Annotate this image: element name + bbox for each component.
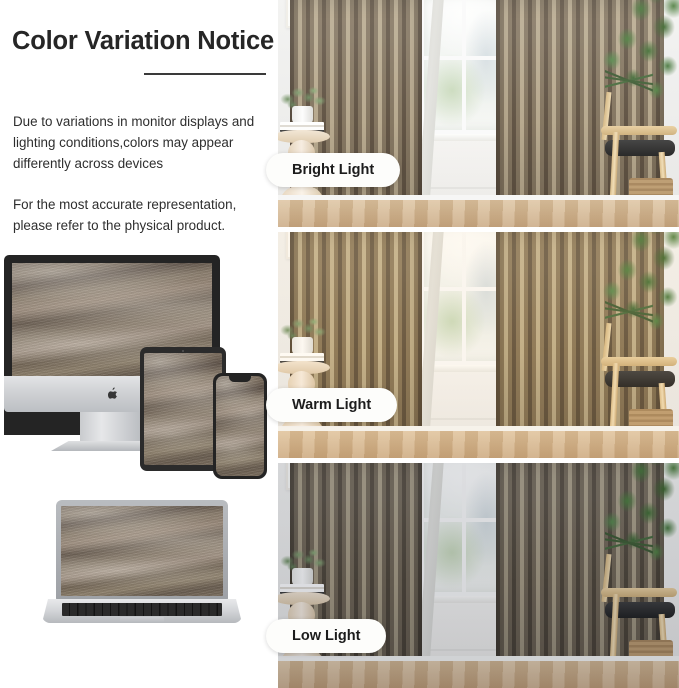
window-mullion-vertical <box>462 231 466 361</box>
title-underline-rule <box>144 73 266 75</box>
panel-divider-2 <box>278 458 679 463</box>
phone-mockup <box>213 373 267 479</box>
panel-divider-1 <box>278 227 679 232</box>
badge-low-light: Low Light <box>266 619 386 653</box>
laptop-trackpad <box>120 617 164 622</box>
wood-floor <box>278 200 679 227</box>
notice-body: Due to variations in monitor displays an… <box>13 111 271 236</box>
wood-floor <box>278 661 679 688</box>
room-scene <box>278 231 679 458</box>
wood-floor <box>278 431 679 458</box>
plant-stems <box>605 30 653 130</box>
notice-paragraph-1: Due to variations in monitor displays an… <box>13 111 271 174</box>
laptop-mockup <box>42 500 242 640</box>
phone-screen-image <box>216 376 264 476</box>
imac-stand-neck <box>80 412 142 445</box>
tablet-camera-icon <box>182 350 184 352</box>
room-scene <box>278 462 679 688</box>
laptop-keyboard <box>62 603 222 616</box>
phone-bezel <box>213 373 267 479</box>
apple-logo-icon <box>108 387 119 400</box>
tablet-screen-image <box>144 353 222 465</box>
laptop-screen-image <box>61 506 223 596</box>
notice-paragraph-2: For the most accurate representation, pl… <box>13 194 271 236</box>
device-mockup-group <box>0 255 278 675</box>
window-mullion-vertical <box>462 462 466 592</box>
panel-bright-light[interactable] <box>278 0 679 227</box>
plant-stems <box>605 492 653 592</box>
badge-warm-light: Warm Light <box>266 388 397 422</box>
laptop-lid <box>56 500 228 600</box>
plant-stems <box>605 261 653 361</box>
lighting-comparison-gallery <box>278 0 679 688</box>
panel-low-light[interactable] <box>278 462 679 688</box>
room-scene <box>278 0 679 227</box>
panel-warm-light[interactable] <box>278 231 679 458</box>
color-variation-notice-page: Color Variation Notice Due to variations… <box>0 0 679 688</box>
phone-notch <box>229 376 251 382</box>
badge-bright-light: Bright Light <box>266 153 400 187</box>
window-mullion-vertical <box>462 0 466 130</box>
page-title: Color Variation Notice <box>12 27 274 56</box>
notice-column: Color Variation Notice Due to variations… <box>0 0 278 688</box>
